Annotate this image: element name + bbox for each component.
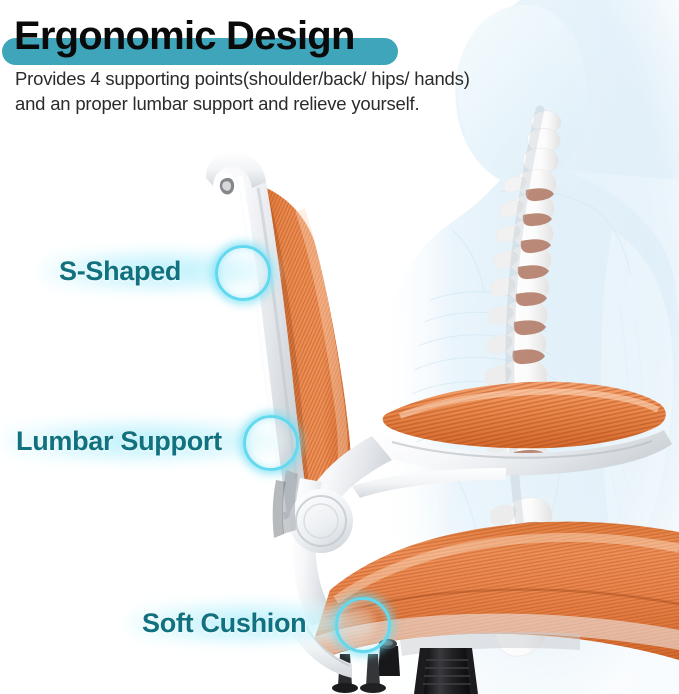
callout-label: S-Shaped xyxy=(59,256,181,287)
callout-lumbar-support: Lumbar Support xyxy=(2,410,222,472)
callout-label: Soft Cushion xyxy=(142,608,306,639)
product-feature-image: Ergonomic Design Provides 4 supporting p… xyxy=(0,0,679,694)
page-title: Ergonomic Design xyxy=(14,8,444,64)
armrest-pad xyxy=(383,382,666,449)
subtitle-line-1: Provides 4 supporting points(shoulder/ba… xyxy=(15,66,595,91)
highlight-ring-icon-soft-cushion xyxy=(335,597,391,653)
highlight-ring-icon-s-shaped xyxy=(215,245,271,301)
flip-up-armrest xyxy=(273,430,672,626)
subtitle: Provides 4 supporting points(shoulder/ba… xyxy=(15,66,595,116)
title-text: Ergonomic Design xyxy=(14,8,355,64)
highlight-ring-icon-lumbar-support xyxy=(243,415,299,471)
callout-soft-cushion: Soft Cushion xyxy=(126,592,306,654)
callout-s-shaped: S-Shaped xyxy=(40,240,181,302)
callout-label: Lumbar Support xyxy=(16,426,222,457)
subtitle-line-2: and an proper lumbar support and relieve… xyxy=(15,91,595,116)
spine-illustration xyxy=(486,110,561,656)
